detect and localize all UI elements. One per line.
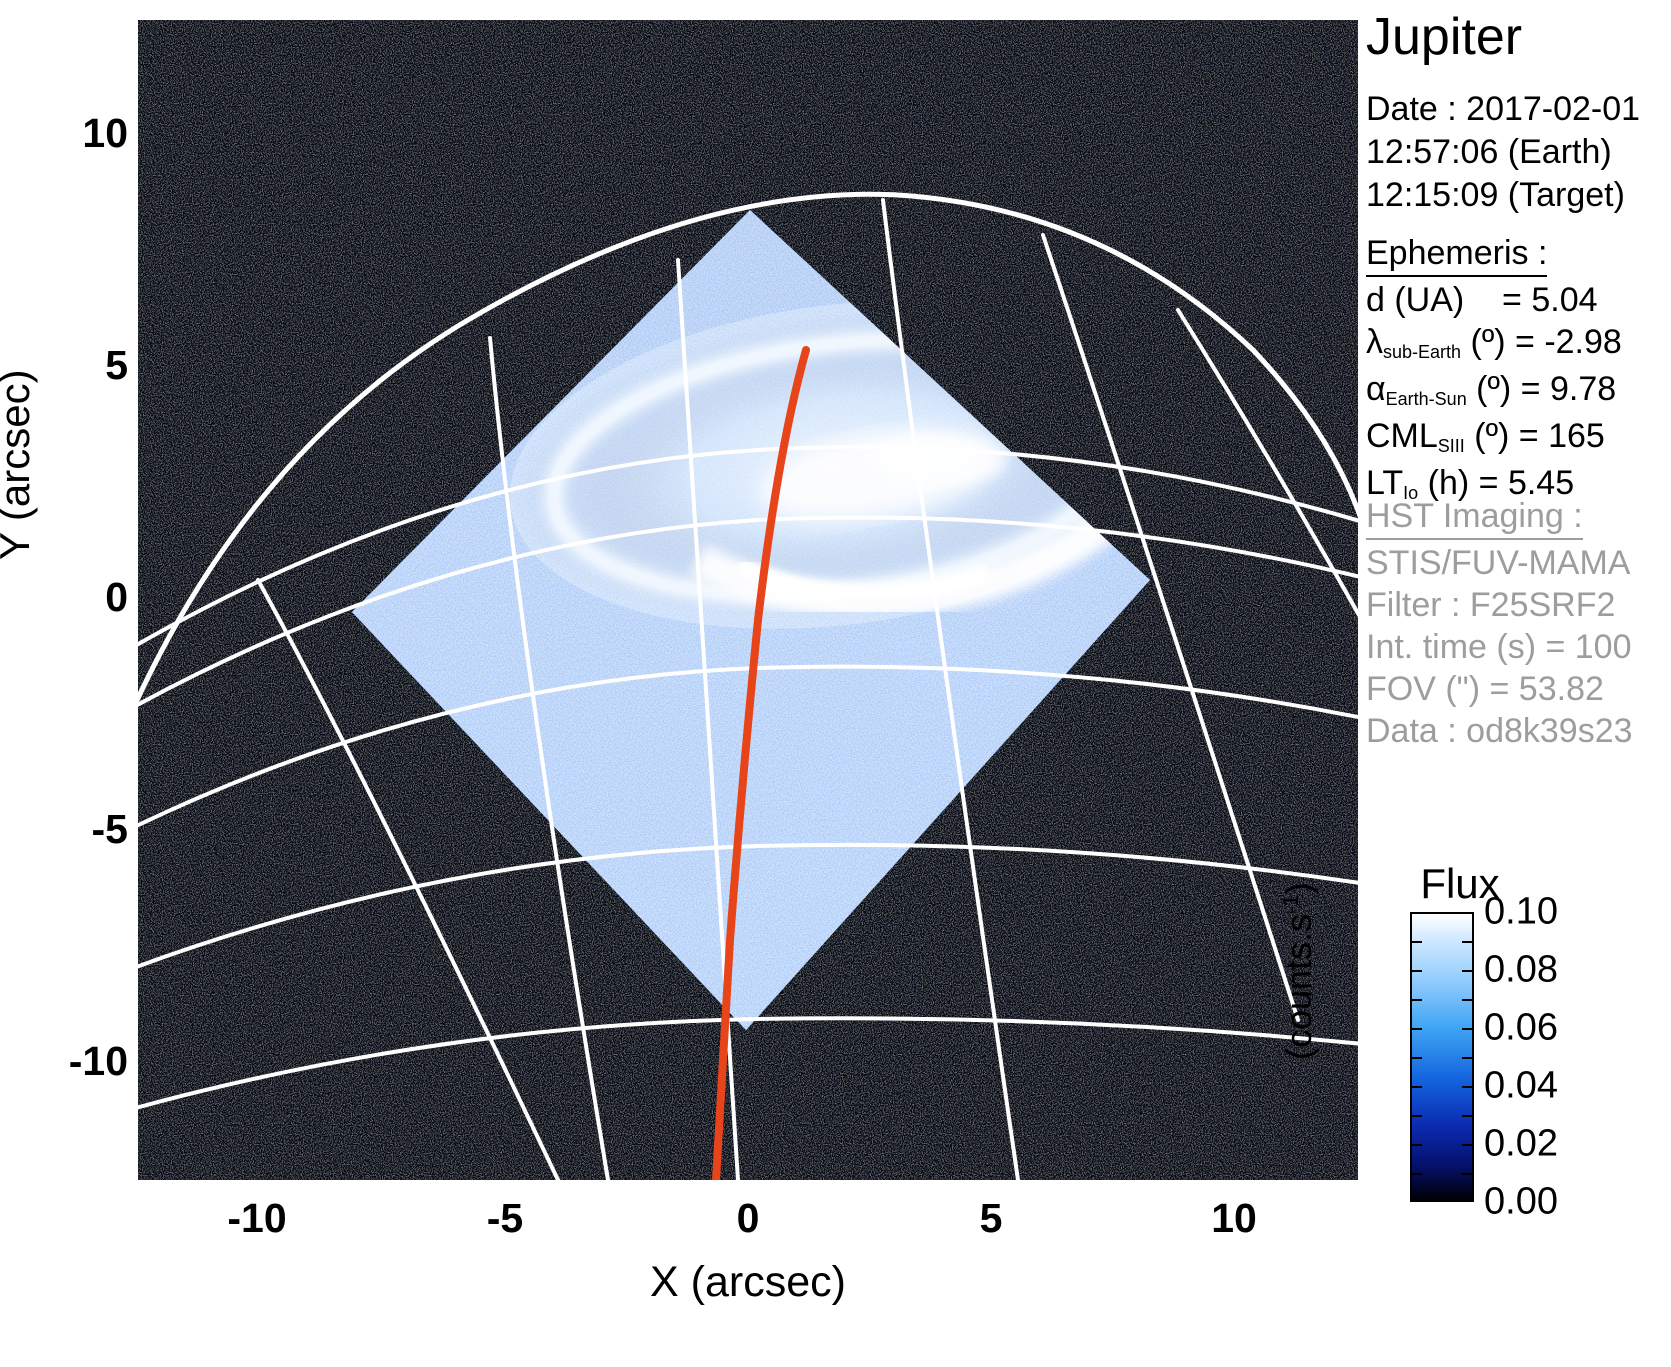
cml-label: CML [1366,417,1438,455]
x-tick-neg5: -5 [445,1195,565,1242]
x-axis-label: X (arcsec) [138,1258,1358,1307]
y-axis: 10 5 0 -5 -10 [0,0,128,1367]
x-tick-0: 0 [688,1195,808,1242]
colorbar-unit-close: ) [1278,882,1319,894]
colorbar-tick-006: 0.06 [1484,1007,1558,1050]
ephemeris-row-phase-angle: αEarth-Sun (º) = 9.78 [1366,368,1622,415]
ephemeris-block: Ephemeris : d (UA) = 5.04 λsub-Earth (º)… [1366,232,1622,509]
ephemeris-row-distance: d (UA) = 5.04 [1366,279,1622,321]
hst-instrument: STIS/FUV-MAMA [1366,542,1633,584]
x-tick-neg10: -10 [197,1195,317,1242]
image-canvas [138,20,1358,1180]
colorbar-minor-tick [1462,941,1474,943]
colorbar-minor-tick [1410,941,1422,943]
jupiter-image-panel [138,20,1358,1180]
distance-value: = 5.04 [1502,281,1597,319]
colorbar-minor-tick [1462,970,1474,972]
lambda-subscript: sub-Earth [1383,342,1461,362]
alpha-symbol: α [1366,370,1386,408]
colorbar-minor-tick [1410,1144,1422,1146]
page-title: Jupiter [1366,8,1522,66]
colorbar-minor-tick [1462,1028,1474,1030]
y-tick-0: 0 [18,574,128,621]
figure-root: 10 5 0 -5 -10 Y (arcsec) -10 -5 0 5 10 X… [0,0,1671,1367]
earth-time: 12:57:06 (Earth) [1366,131,1640,174]
hst-int-time: Int. time (s) = 100 [1366,626,1633,668]
hst-imaging-block: HST Imaging : STIS/FUV-MAMA Filter : F25… [1366,495,1633,752]
colorbar-minor-tick [1462,1144,1474,1146]
lambda-value: = -2.98 [1515,323,1622,361]
colorbar-minor-tick [1410,1057,1422,1059]
colorbar-minor-tick [1462,999,1474,1001]
hst-filter: Filter : F25SRF2 [1366,584,1633,626]
lambda-symbol: λ [1366,323,1383,361]
distance-label: d (UA) [1366,281,1464,319]
alpha-unit: (º) [1476,370,1511,408]
colorbar-unit-label: (counts.s-1) [1278,882,1320,1060]
colorbar-minor-tick [1410,1086,1422,1088]
colorbar-minor-tick [1410,970,1422,972]
y-axis-label: Y (arcsec) [0,369,39,560]
cml-value: = 165 [1519,417,1605,455]
colorbar-unit-text: (counts.s [1278,914,1319,1060]
colorbar-tick-002: 0.02 [1484,1123,1558,1166]
ephemeris-row-sub-earth-lat: λsub-Earth (º) = -2.98 [1366,321,1622,368]
colorbar-tick-010: 0.10 [1484,891,1558,934]
observation-date-block: Date : 2017-02-01 12:57:06 (Earth) 12:15… [1366,88,1640,217]
x-tick-5: 5 [931,1195,1051,1242]
date-line: Date : 2017-02-01 [1366,88,1640,131]
colorbar-minor-tick [1462,1115,1474,1117]
cml-subscript: SIII [1438,436,1465,456]
colorbar-minor-tick [1462,1173,1474,1175]
colorbar-tick-008: 0.08 [1484,949,1558,992]
colorbar-tick-000: 0.00 [1484,1181,1558,1224]
target-time: 12:15:09 (Target) [1366,174,1640,217]
hst-imaging-heading: HST Imaging : [1366,495,1583,540]
x-tick-10: 10 [1174,1195,1294,1242]
alpha-subscript: Earth-Sun [1386,389,1467,409]
info-column: Jupiter Date : 2017-02-01 12:57:06 (Eart… [1366,0,1671,1367]
cml-unit: (º) [1474,417,1509,455]
y-tick-10: 10 [18,110,128,157]
lambda-unit: (º) [1471,323,1506,361]
hst-data-id: Data : od8k39s23 [1366,710,1633,752]
colorbar-minor-tick [1410,999,1422,1001]
y-tick-neg10: -10 [18,1038,128,1085]
colorbar-minor-tick [1410,1173,1422,1175]
colorbar-ticks: 0.10 0.08 0.06 0.04 0.02 0.00 [1366,912,1671,1202]
ephemeris-heading: Ephemeris : [1366,232,1547,277]
hst-fov: FOV (") = 53.82 [1366,668,1633,710]
colorbar: Flux (counts.s-1) 0.10 0.08 0.06 0.04 0.… [1366,860,1671,1200]
colorbar-minor-tick [1462,1057,1474,1059]
colorbar-minor-tick [1410,1115,1422,1117]
alpha-value: = 9.78 [1521,370,1616,408]
colorbar-tick-004: 0.04 [1484,1065,1558,1108]
colorbar-minor-tick [1410,1028,1422,1030]
ephemeris-row-cml: CMLSIII (º) = 165 [1366,415,1622,462]
colorbar-unit-exponent: -1 [1278,894,1303,914]
y-tick-neg5: -5 [18,806,128,853]
colorbar-minor-tick [1462,1086,1474,1088]
